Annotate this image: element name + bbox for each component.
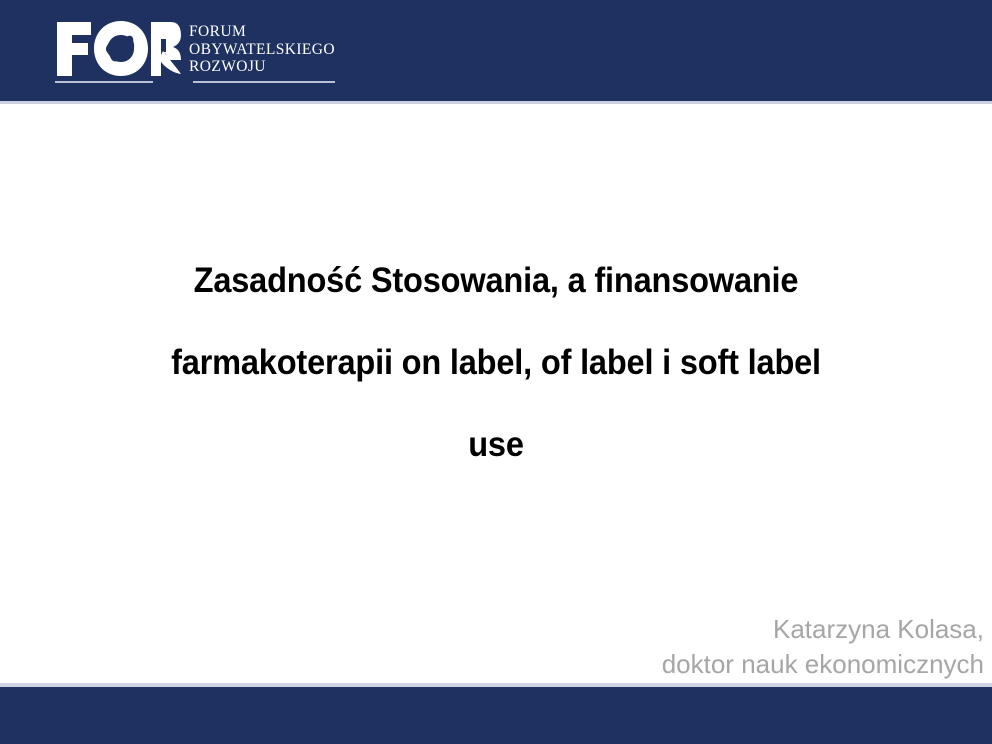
author-title: doktor nauk ekonomicznych <box>444 647 984 682</box>
footer-band <box>0 687 992 744</box>
logo-underline-gap <box>153 81 193 83</box>
for-logo: FORUM OBYWATELSKIEGO ROZWOJU <box>55 18 335 84</box>
title-line-2: farmakoterapii on label, of label i soft… <box>105 322 886 404</box>
title-line-1: Zasadność Stosowania, a finansowanie <box>105 240 886 322</box>
wordmark-line-3: ROZWOJU <box>189 58 335 76</box>
title-line-3: use <box>105 404 886 486</box>
slide-title: Zasadność Stosowania, a finansowanie far… <box>76 240 916 486</box>
for-wordmark: FORUM OBYWATELSKIEGO ROZWOJU <box>189 23 335 77</box>
wordmark-line-2: OBYWATELSKIEGO <box>189 41 335 59</box>
header-band-edge <box>0 101 992 104</box>
wordmark-line-1: FORUM <box>189 23 335 41</box>
author-name: Katarzyna Kolasa, <box>444 612 984 647</box>
presentation-slide: FORUM OBYWATELSKIEGO ROZWOJU Zasadność S… <box>0 0 992 744</box>
author-attribution: Katarzyna Kolasa, doktor nauk ekonomiczn… <box>444 612 984 682</box>
for-lettermark-icon <box>55 18 181 80</box>
logo-underline <box>55 81 335 83</box>
